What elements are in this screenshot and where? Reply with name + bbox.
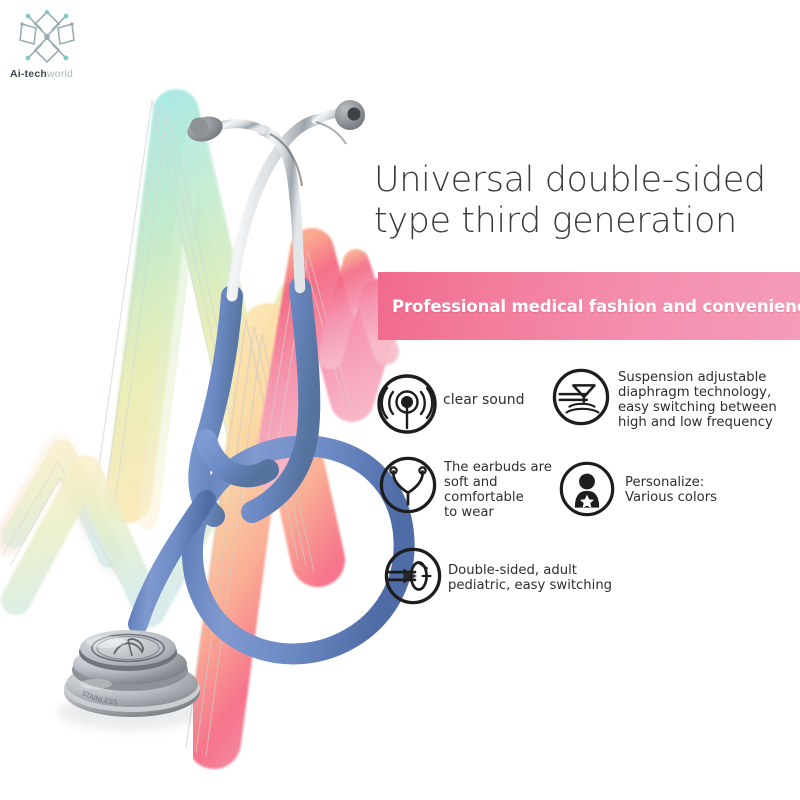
sound-wave-icon xyxy=(377,374,437,434)
feature-personalize-label: Personalize: Various colors xyxy=(625,475,717,505)
brand-name: Ai-techworld xyxy=(10,68,73,80)
feature-earbuds: The earbuds are soft and comfortable to … xyxy=(379,456,552,520)
feature-earbuds-label: The earbuds are soft and comfortable to … xyxy=(444,460,552,520)
double-sided-chestpiece-icon xyxy=(384,547,442,605)
brand-logo: Ai-techworld xyxy=(8,6,128,92)
person-star-icon xyxy=(559,461,615,517)
headline-line-2: type third generation xyxy=(374,201,794,242)
feature-double-sided: Double-sided, adult pediatric, easy swit… xyxy=(384,547,612,605)
feature-diaphragm-label: Suspension adjustable diaphragm technolo… xyxy=(618,370,777,430)
feature-diaphragm: Suspension adjustable diaphragm technolo… xyxy=(552,368,777,430)
circuit-star-logo-icon xyxy=(14,6,80,68)
feature-double-sided-label: Double-sided, adult pediatric, easy swit… xyxy=(448,563,612,593)
page-title: Universal double-sided type third genera… xyxy=(374,160,794,241)
product-marketing-banner: Ai-techworld xyxy=(0,0,800,800)
feature-clear-sound: clear sound xyxy=(377,374,524,434)
tagline-text: Professional medical fashion and conveni… xyxy=(378,297,800,316)
feature-personalize: Personalize: Various colors xyxy=(559,461,717,517)
headline-line-1: Universal double-sided xyxy=(374,160,766,200)
tagline-banner: Professional medical fashion and conveni… xyxy=(378,272,800,340)
feature-clear-sound-label: clear sound xyxy=(443,393,524,409)
brand-name-bold: Ai-tech xyxy=(10,68,47,80)
brand-name-light: world xyxy=(47,68,73,80)
diaphragm-icon xyxy=(552,368,610,426)
headset-icon xyxy=(379,456,437,514)
